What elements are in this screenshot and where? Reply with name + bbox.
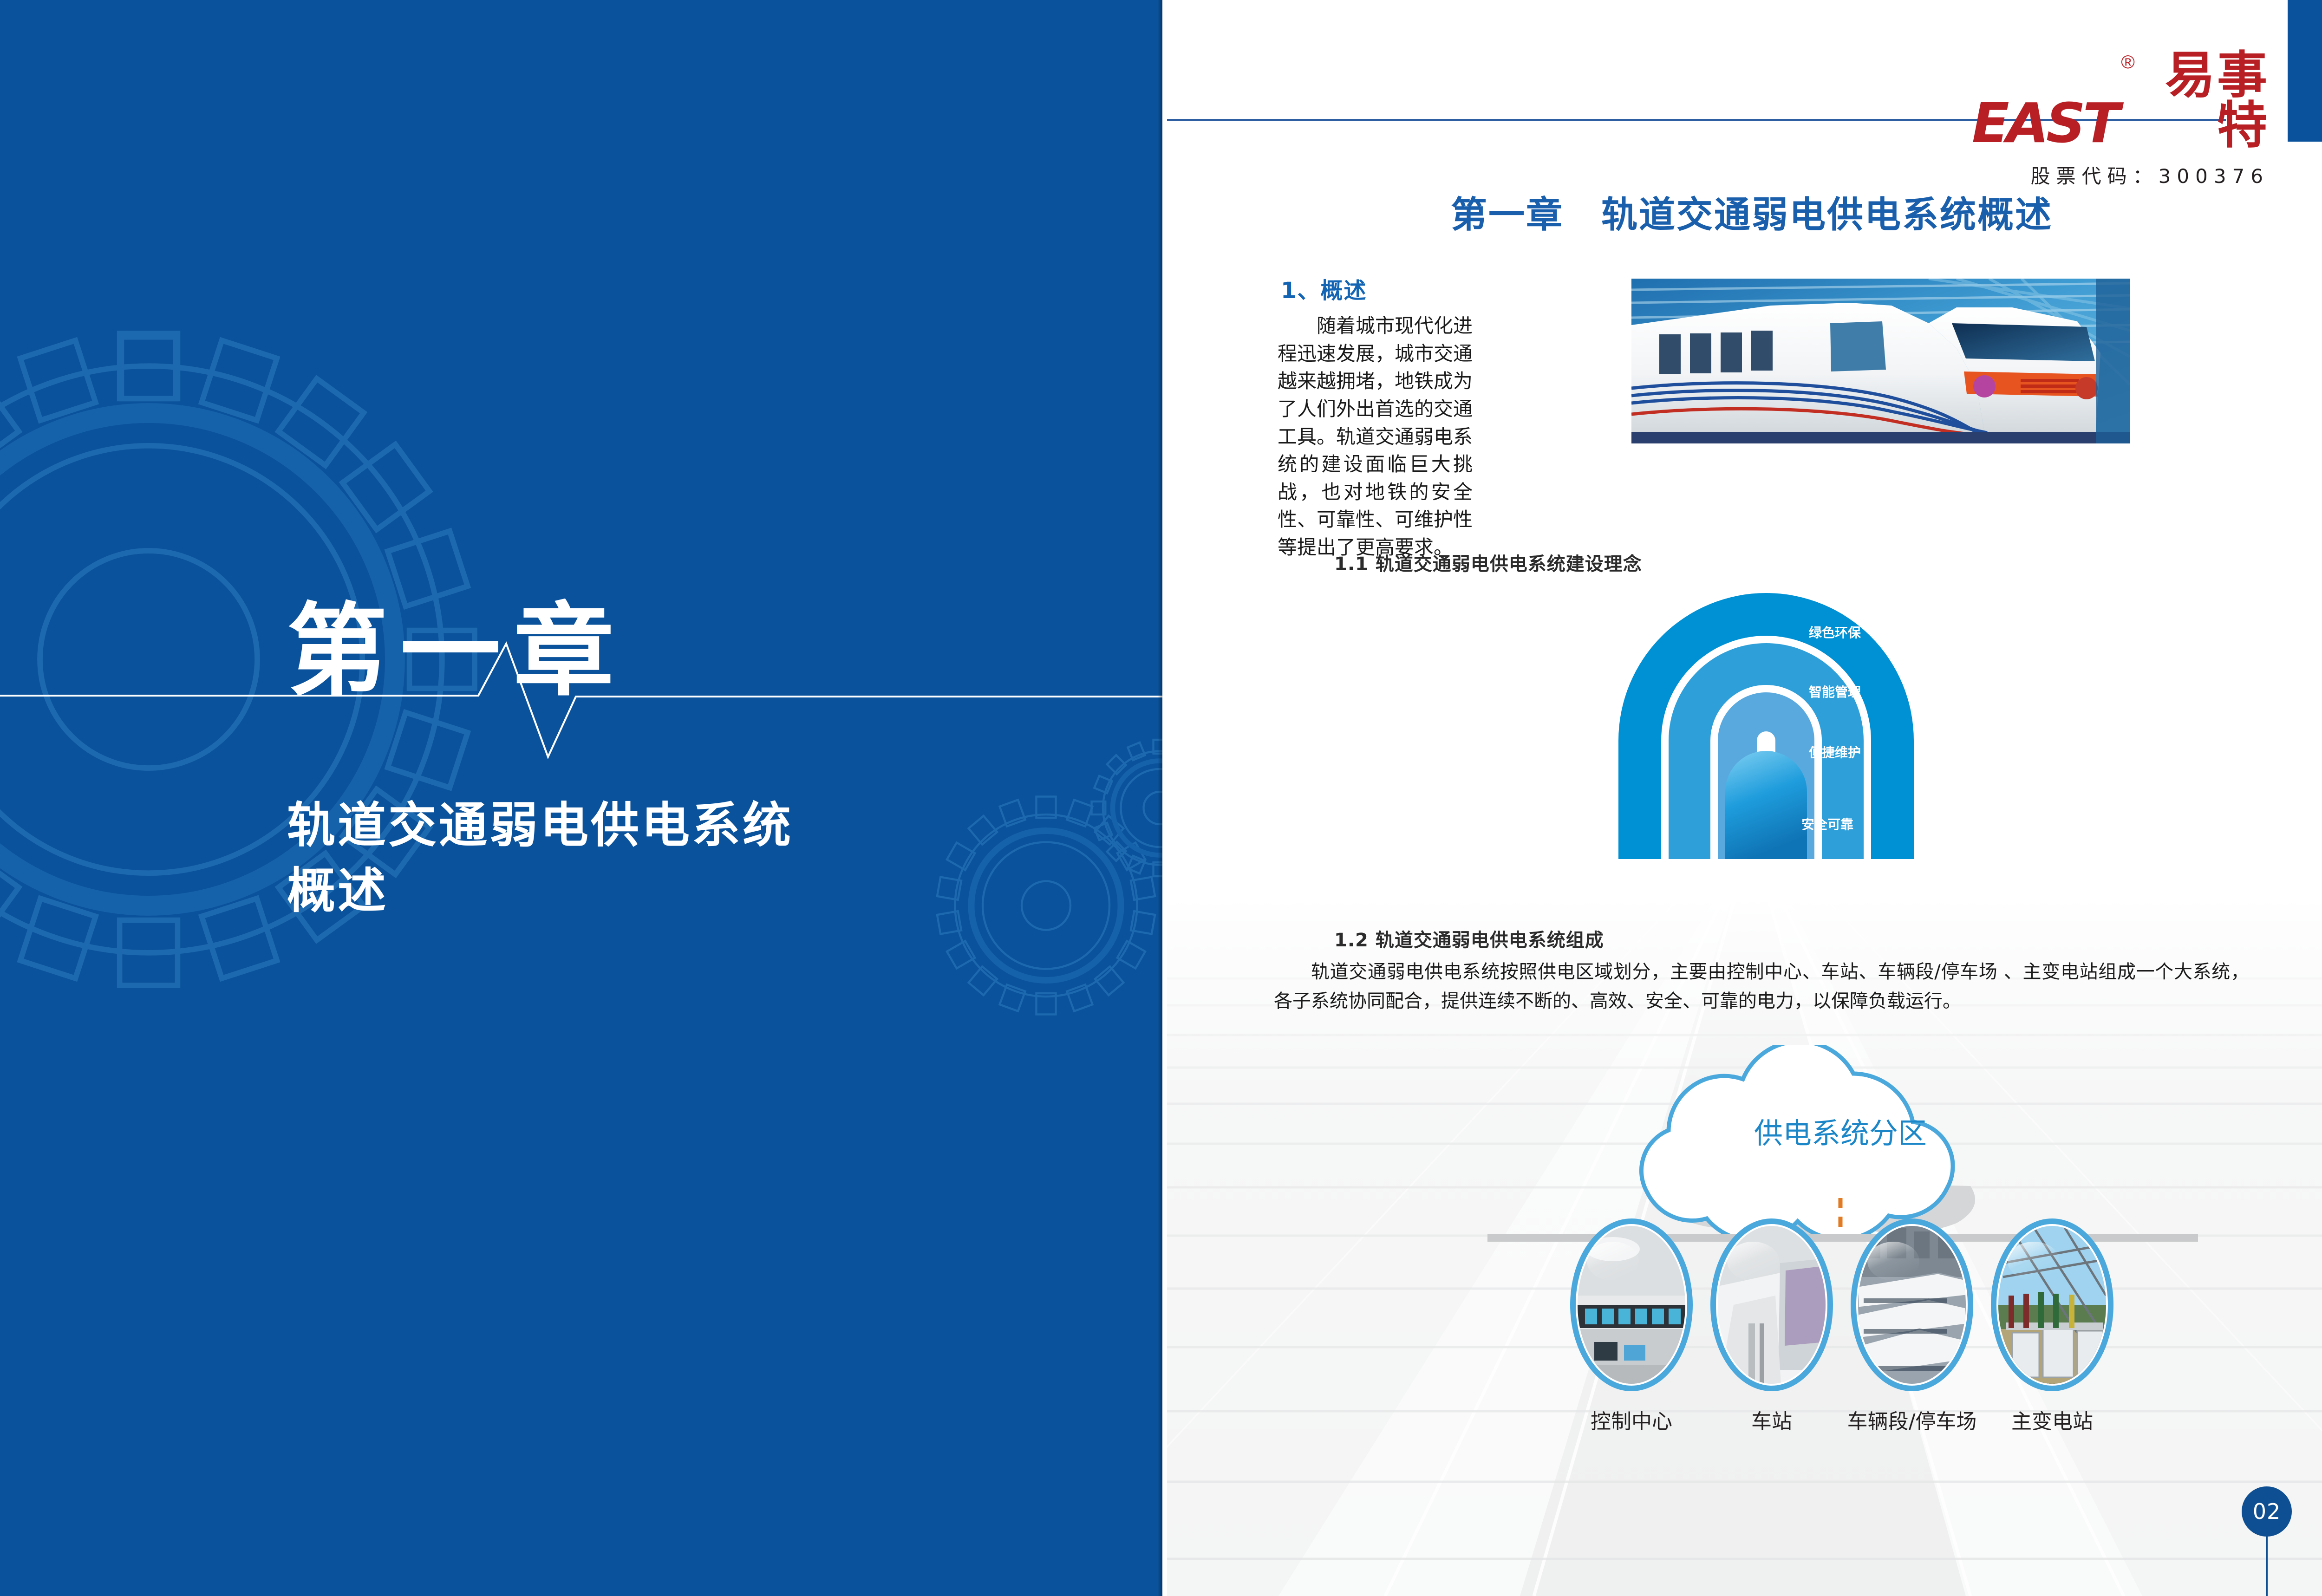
node-label-2: 车辆段/停车场 — [1847, 1410, 1977, 1433]
node-label-1: 车站 — [1751, 1410, 1792, 1433]
high-speed-train-photo — [1631, 279, 2130, 443]
brochure-spread: 第一章 轨道交通弱电供电系统 概述 — [0, 0, 2322, 1596]
content-page: EAST ® 易事特 股票代码：300376 第一章 轨道交通弱电供电系统概述 … — [1167, 0, 2322, 1596]
registered-trademark-icon: ® — [2121, 53, 2134, 72]
node-control-center — [1573, 1221, 1690, 1388]
power-zone-diagram: 供电系统分区 — [1288, 1045, 2231, 1509]
chapter-subtitle-line1: 轨道交通弱电供电系统 — [287, 793, 1076, 858]
node-label-0: 控制中心 — [1591, 1410, 1672, 1433]
node-substation — [1994, 1221, 2111, 1388]
page-number-stem — [2266, 1535, 2268, 1596]
section-1-1-heading: 1.1 轨道交通弱电供电系统建设理念 — [1334, 549, 1642, 576]
cloud-label: 供电系统分区 — [1754, 1116, 1927, 1150]
arc-core-dome — [1725, 751, 1807, 859]
page-number-badge: 02 — [2242, 1486, 2292, 1537]
chapter-subtitle: 轨道交通弱电供电系统 概述 — [287, 793, 1076, 924]
arc-label-4: 安全可靠 — [1801, 817, 1853, 832]
section-1-body: 随着城市现代化进程迅速发展，城市交通越来越拥堵，地铁成为了人们外出首选的交通工具… — [1278, 312, 1473, 561]
arc-label-1: 绿色环保 — [1809, 625, 1861, 640]
node-label-3: 主变电站 — [2011, 1410, 2093, 1433]
logo-east-wordmark: EAST — [1972, 96, 2117, 150]
section-1-heading: 1、概述 — [1281, 272, 1367, 305]
logo-chinese-name: 易事特 — [2141, 50, 2269, 150]
node-depot — [1853, 1221, 1970, 1388]
node-station — [1713, 1221, 1830, 1388]
chapter-cover-text: 第一章 轨道交通弱电供电系统 概述 — [287, 599, 1076, 924]
chapter-number: 第一章 — [287, 599, 1076, 704]
header-corner-block — [2288, 0, 2322, 142]
company-logo: EAST ® 易事特 股票代码：300376 — [1972, 50, 2269, 189]
chapter-subtitle-line2: 概述 — [287, 858, 1076, 924]
arc-label-2: 智能管理 — [1809, 684, 1861, 700]
page-gutter-shadow — [1158, 0, 1162, 1596]
stock-code-label: 股票代码：300376 — [1972, 161, 2269, 189]
section-1-2-body: 轨道交通弱电供电系统按照供电区域划分，主要由控制中心、车站、车辆段/停车场 、主… — [1274, 958, 2249, 1016]
arc-label-3: 便捷维护 — [1809, 745, 1861, 760]
section-1-2-heading: 1.2 轨道交通弱电供电系统组成 — [1334, 925, 1604, 952]
chapter-cover-page: 第一章 轨道交通弱电供电系统 概述 — [0, 0, 1162, 1596]
page-title: 第一章 轨道交通弱电供电系统概述 — [1167, 186, 2322, 238]
concept-arc-diagram: 绿色环保 智能管理 便捷维护 安全可靠 绿色环保 智能管理 便捷维护 安全可靠 — [1608, 580, 1924, 887]
